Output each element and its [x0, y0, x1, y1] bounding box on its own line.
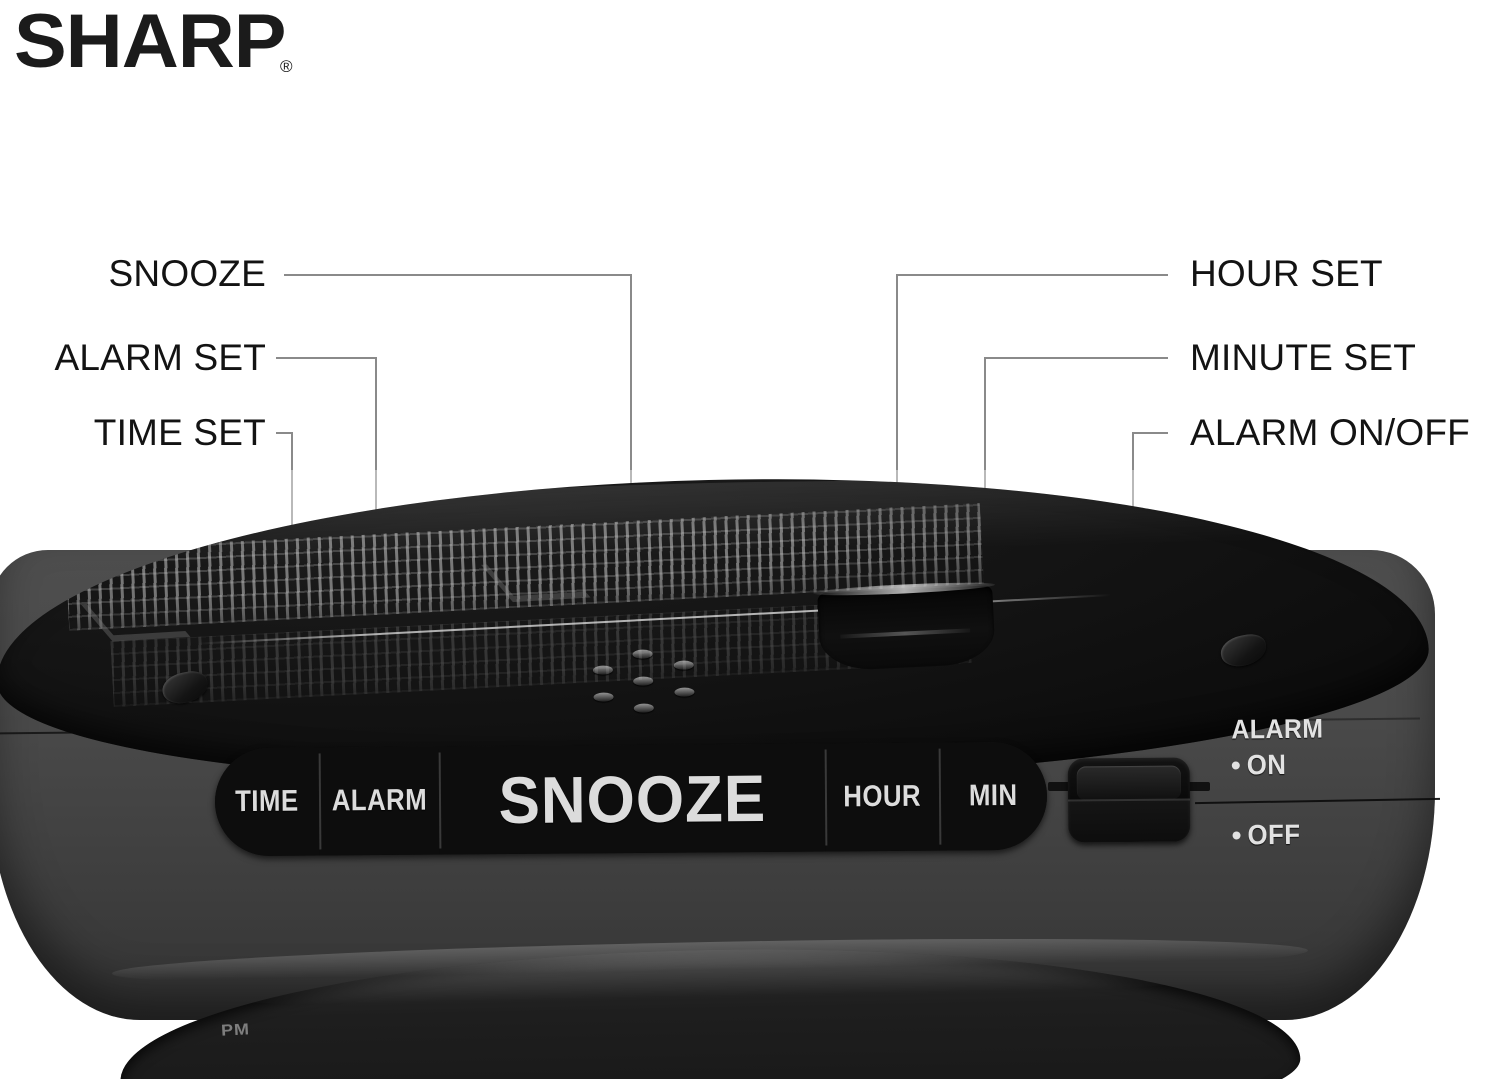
molded-dot [593, 692, 613, 701]
leader-line-snooze-horizontal [284, 274, 632, 276]
alarm-switch-slider[interactable] [1076, 766, 1181, 801]
leader-line-minute-set-horizontal [984, 357, 1168, 359]
callout-label-snooze: SNOOZE [86, 255, 266, 292]
alarm-on-off-switch[interactable] [1068, 757, 1191, 842]
leader-line-minute-set-vertical [984, 357, 986, 470]
callout-label-time-set: TIME SET [72, 414, 266, 451]
deck-recessed-slot [818, 585, 997, 671]
alarm-legend-on-label: ON [1247, 749, 1287, 781]
pm-indicator: PM [221, 1021, 251, 1041]
leader-line-hour-set-vertical [896, 274, 898, 470]
alarm-button-label: ALARM [331, 784, 427, 819]
snooze-button[interactable]: SNOOZE [439, 743, 826, 854]
leader-line-alarm-on-off-horizontal [1132, 432, 1168, 434]
brand-name: SHARP [14, 4, 285, 80]
bullet-icon-on [1232, 761, 1240, 769]
molded-nub-right [1218, 631, 1269, 669]
snooze-button-label: SNOOZE [498, 760, 766, 838]
alarm-switch-legend: ALARM ON OFF [1231, 713, 1332, 851]
min-button[interactable]: MIN [939, 742, 1048, 851]
hour-button[interactable]: HOUR [825, 743, 940, 852]
switch-tab-left [1048, 782, 1070, 791]
callout-label-hour-set: HOUR SET [1190, 255, 1383, 292]
min-button-label: MIN [969, 779, 1018, 813]
molded-dot [675, 687, 695, 696]
callout-label-minute-set: MINUTE SET [1190, 339, 1416, 376]
switch-tab-right [1188, 782, 1210, 791]
sharp-logo: SHARP ® [14, 4, 293, 80]
time-button[interactable]: TIME [215, 747, 320, 856]
leader-line-snooze-vertical [630, 274, 632, 470]
molded-dot [634, 703, 654, 712]
leader-line-alarm-set-horizontal [276, 357, 377, 359]
alarm-legend-option-on: ON [1232, 748, 1332, 781]
alarm-legend-title: ALARM [1231, 714, 1323, 746]
leader-line-alarm-set-vertical [375, 357, 377, 470]
leader-line-time-set-vertical [291, 432, 293, 470]
alarm-legend-off-label: OFF [1247, 819, 1300, 852]
control-button-bar: TIME ALARM SNOOZE HOUR MIN [215, 742, 1048, 857]
leader-line-hour-set-horizontal [896, 274, 1168, 276]
time-button-label: TIME [235, 785, 299, 819]
leader-line-alarm-on-off-vertical [1132, 432, 1134, 470]
callout-label-alarm-set: ALARM SET [32, 339, 266, 376]
alarm-legend-option-off: OFF [1232, 818, 1332, 851]
bullet-icon-off [1233, 831, 1241, 839]
hour-button-label: HOUR [843, 780, 921, 815]
product-callout-diagram: SHARP ® SNOOZE ALARM SET TIME SET HOUR S… [0, 0, 1500, 1079]
alarm-clock-product: TIME ALARM SNOOZE HOUR MIN ALARM [0, 470, 1500, 1079]
callout-label-alarm-on-off: ALARM ON/OFF [1190, 414, 1470, 451]
molded-dot [633, 676, 653, 685]
alarm-switch-seam [1068, 799, 1190, 802]
alarm-button[interactable]: ALARM [319, 747, 440, 856]
